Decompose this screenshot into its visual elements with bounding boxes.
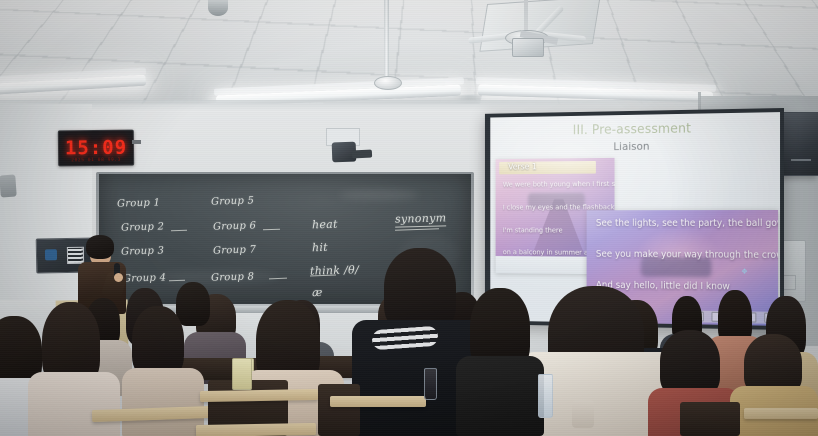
desk [330, 396, 426, 407]
lyric-line: See you make your way through the crowd [596, 249, 778, 261]
speaker-grille-line [791, 159, 811, 161]
lyric-line: I'm standing there [503, 226, 563, 235]
ceiling-fan-rod [524, 0, 528, 34]
slide-title: III. Pre-assessment [490, 120, 780, 139]
board-word-heat: heat [312, 218, 338, 232]
camera-support-arm [352, 149, 372, 158]
teacher-hair [86, 235, 114, 259]
light-switch-button[interactable] [782, 275, 796, 290]
clock-secondary-display: 2025 01 08 99.3 [59, 158, 133, 164]
board-word-ae: æ [312, 286, 323, 299]
board-text-group2: Group 2 [121, 221, 165, 233]
slide-subtitle: Liaison [490, 138, 780, 154]
board-text-group7: Group 7 [213, 244, 257, 256]
hoodie-drawstring [572, 400, 594, 428]
desk [200, 389, 318, 402]
projector-lens-head [512, 38, 544, 57]
right-wall-speaker [782, 112, 818, 176]
lyric-line: See the lights, see the party, the ball … [596, 218, 778, 229]
desk [744, 408, 818, 419]
board-annotation-synonym: synonym [395, 211, 447, 227]
phone-or-bottle [424, 368, 437, 400]
desk [196, 423, 316, 436]
ceiling-dome-camera-icon [208, 0, 228, 16]
chair-back [680, 402, 740, 436]
drink-cup [232, 358, 252, 390]
board-text-group6: Group 6 [213, 220, 257, 232]
verse-tab-label: Verse 1 [508, 163, 537, 173]
ceiling-fan-rod [384, 0, 389, 80]
chair-back [318, 384, 360, 436]
panel-logo-icon [45, 249, 57, 260]
lyric-line: We were both young when I first saw you. [503, 179, 615, 189]
board-text-group8: Group 8 [211, 271, 255, 283]
verse-tab: Verse 1 [499, 161, 596, 174]
left-wall-speaker [0, 174, 17, 197]
clock-time-display: 15:09 [65, 137, 127, 160]
cursor-icon: ✥ [742, 268, 749, 275]
ceiling-fan-hub [374, 76, 402, 90]
classroom-photo: 15:09 2025 01 08 99.3 Group 1 Group 2 Gr… [0, 0, 818, 436]
teacher-hand [114, 273, 123, 282]
clock-mount-bracket [132, 140, 141, 144]
board-text-group5: Group 5 [211, 195, 255, 207]
water-bottle [538, 374, 553, 418]
board-text-group1: Group 1 [117, 197, 161, 209]
board-word-hit: hit [312, 241, 328, 254]
digital-wall-clock: 15:09 2025 01 08 99.3 [58, 130, 134, 167]
